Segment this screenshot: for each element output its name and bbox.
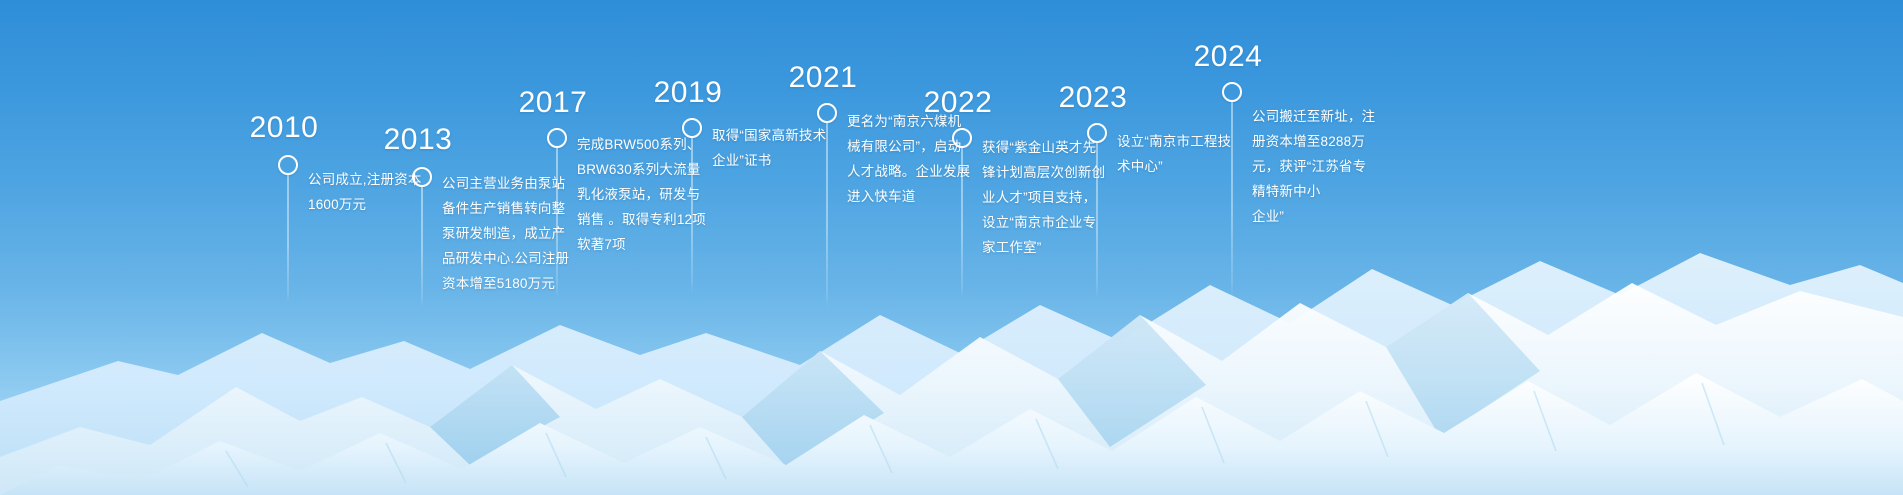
timeline-circle-marker-icon[interactable]: [278, 155, 298, 175]
timeline-year-label: 2023: [1059, 83, 1128, 113]
timeline-stem-line: [557, 148, 558, 298]
timeline-year-label: 2022: [924, 88, 993, 118]
timeline-year-label: 2013: [384, 125, 453, 155]
timeline-description: 取得“国家高新技术 企业”证书: [712, 124, 862, 174]
timeline-circle-marker-icon[interactable]: [1087, 123, 1107, 143]
timeline-description: 更名为“南京六煤机 械有限公司”，启动 人才战略。企业发展 进入快车道: [847, 110, 999, 210]
timeline-infographic: 2010公司成立,注册资本 1600万元2013公司主营业务由泵站 备件生产销售…: [0, 0, 1903, 495]
timeline-description: 公司主营业务由泵站 备件生产销售转向整 泵研发制造，成立产 品研发中心.公司注册…: [442, 172, 592, 297]
timeline-circle-marker-icon[interactable]: [412, 167, 432, 187]
timeline-circle-marker-icon[interactable]: [952, 128, 972, 148]
timeline-stem-line: [962, 148, 963, 298]
timeline-description: 公司成立,注册资本 1600万元: [308, 168, 458, 218]
timeline-track: 2010公司成立,注册资本 1600万元2013公司主营业务由泵站 备件生产销售…: [0, 0, 1903, 495]
timeline-year-label: 2021: [789, 63, 858, 93]
timeline-year-label: 2017: [519, 88, 588, 118]
timeline-circle-marker-icon[interactable]: [682, 118, 702, 138]
timeline-year-label: 2010: [250, 113, 319, 143]
timeline-circle-marker-icon[interactable]: [817, 103, 837, 123]
timeline-stem-line: [1232, 102, 1233, 297]
timeline-year-label: 2019: [654, 78, 723, 108]
timeline-stem-line: [288, 175, 289, 303]
timeline-stem-line: [827, 123, 828, 308]
timeline-description: 公司搬迁至新址，注 册资本增至8288万 元，获评“江苏省专 精特新中小 企业”: [1252, 105, 1404, 230]
timeline-description: 设立“南京市工程技 术中心”: [1117, 130, 1267, 180]
timeline-stem-line: [692, 138, 693, 293]
timeline-circle-marker-icon[interactable]: [1222, 82, 1242, 102]
timeline-stem-line: [422, 187, 423, 307]
timeline-description: 获得“紫金山英才先 锋计划高层次创新创 业人才”项目支持， 设立“南京市企业专 …: [982, 136, 1134, 261]
timeline-year-label: 2024: [1194, 42, 1263, 72]
timeline-description: 完成BRW500系列、 BRW630系列大流量 乳化液泵站，研发与 销售 。取得…: [577, 133, 729, 258]
timeline-circle-marker-icon[interactable]: [547, 128, 567, 148]
timeline-stem-line: [1097, 143, 1098, 298]
